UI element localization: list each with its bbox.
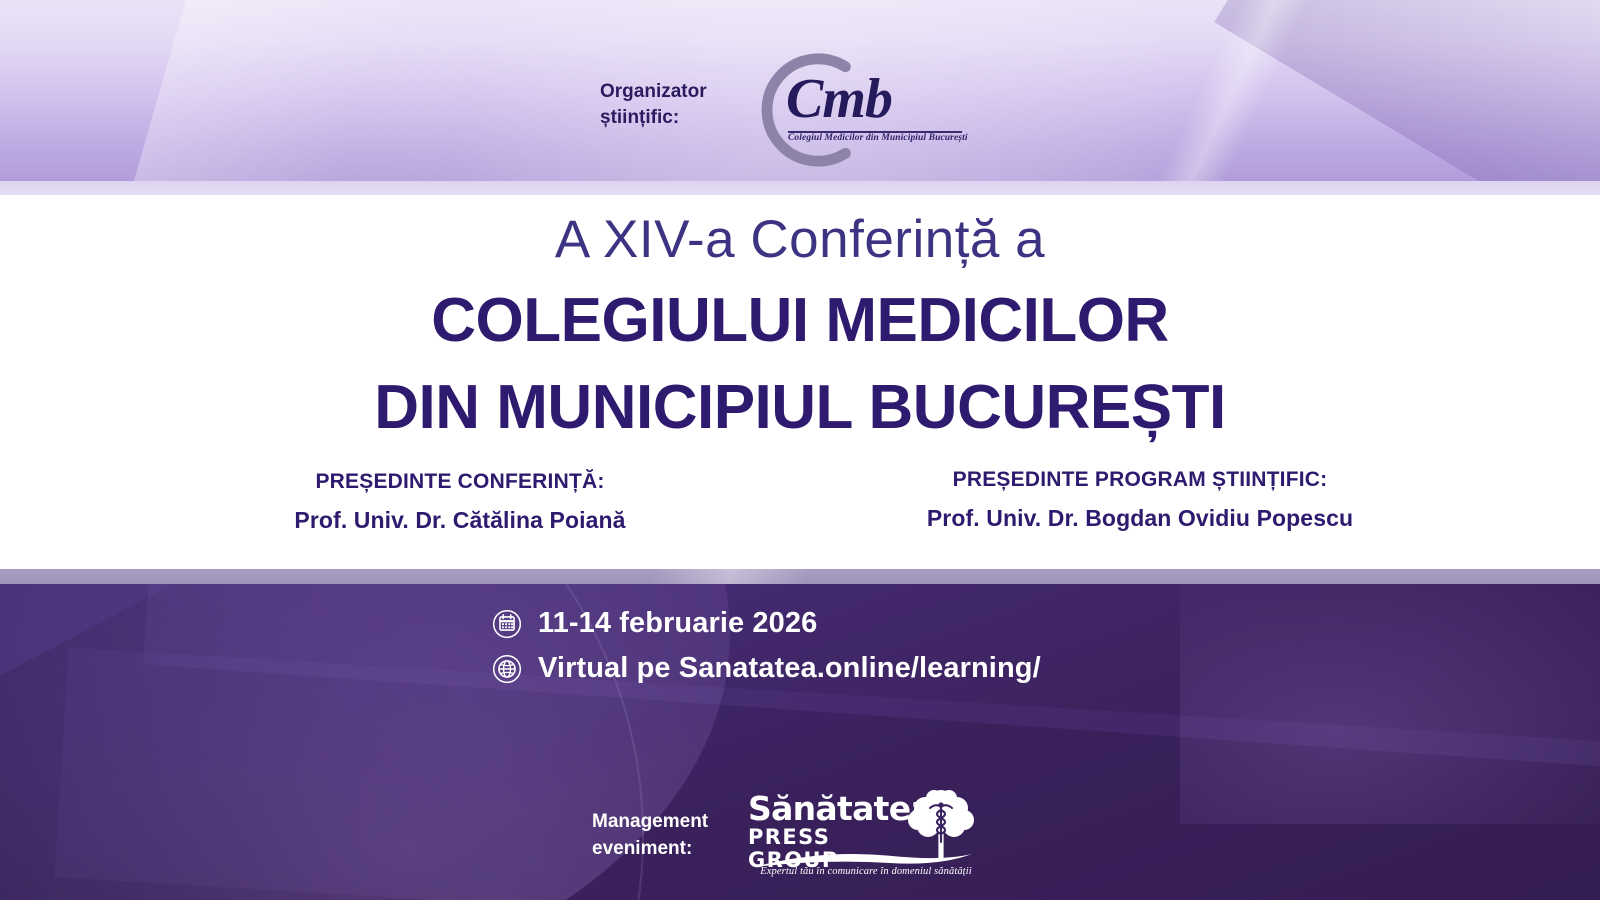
- spg-brand-name: Sănătatea: [748, 792, 908, 825]
- dark-right-glow-decoration: [1180, 584, 1600, 824]
- conference-chair-role: PREȘEDINTE CONFERINȚĂ:: [120, 470, 800, 494]
- scientific-chair-block: PREȘEDINTE PROGRAM ȘTIINȚIFIC: Prof. Uni…: [790, 468, 1490, 532]
- scientific-chair-role: PREȘEDINTE PROGRAM ȘTIINȚIFIC:: [790, 468, 1490, 492]
- event-location-row: Virtual pe Sanatatea.online/learning/: [492, 652, 1041, 685]
- cmb-logo: Cmb Colegiul Medicilor din Municipiul Bu…: [738, 45, 968, 165]
- page-title-line-1: COLEGIULUI MEDICILOR: [0, 285, 1600, 356]
- scientific-chair-name: Prof. Univ. Dr. Bogdan Ovidiu Popescu: [790, 505, 1490, 532]
- organizer-row: Organizator științific: Cmb Colegiul Med…: [600, 50, 1020, 160]
- event-date-row: 11-14 februarie 2026: [492, 607, 1041, 640]
- organizer-label: Organizator științific:: [600, 79, 720, 130]
- page-title-line-2: DIN MUNICIPIUL BUCUREȘTI: [0, 372, 1600, 443]
- conference-edition-line: A XIV-a Conferință a: [0, 209, 1600, 270]
- cmb-tagline: Colegiul Medicilor din Municipiul Bucure…: [788, 133, 964, 143]
- management-row: Management eveniment: Sănătatea PRESS GR…: [592, 788, 978, 883]
- globe-icon: [492, 654, 522, 684]
- conference-chair-name: Prof. Univ. Dr. Cătălina Poiană: [120, 507, 800, 534]
- management-label: Management eveniment:: [592, 809, 722, 862]
- event-location-text: Virtual pe Sanatatea.online/learning/: [538, 652, 1041, 685]
- bottom-divider-strip: [0, 569, 1600, 584]
- conference-chair-block: PREȘEDINTE CONFERINȚĂ: Prof. Univ. Dr. C…: [120, 470, 800, 534]
- top-light-streak-decoration: [1080, 0, 1420, 181]
- event-date-text: 11-14 februarie 2026: [538, 607, 817, 640]
- sanatatea-press-group-logo: Sănătatea PRESS GROUP: [748, 788, 978, 883]
- spg-tagline: Expertul tău în comunicare în domeniul s…: [754, 866, 978, 877]
- conference-banner: Organizator științific: Cmb Colegiul Med…: [0, 0, 1600, 900]
- top-divider-strip: [0, 181, 1600, 195]
- event-info-block: 11-14 februarie 2026 Virtual pe Sanatate…: [492, 607, 1041, 685]
- cmb-wordmark: Cmb: [786, 71, 892, 127]
- calendar-icon: [492, 609, 522, 639]
